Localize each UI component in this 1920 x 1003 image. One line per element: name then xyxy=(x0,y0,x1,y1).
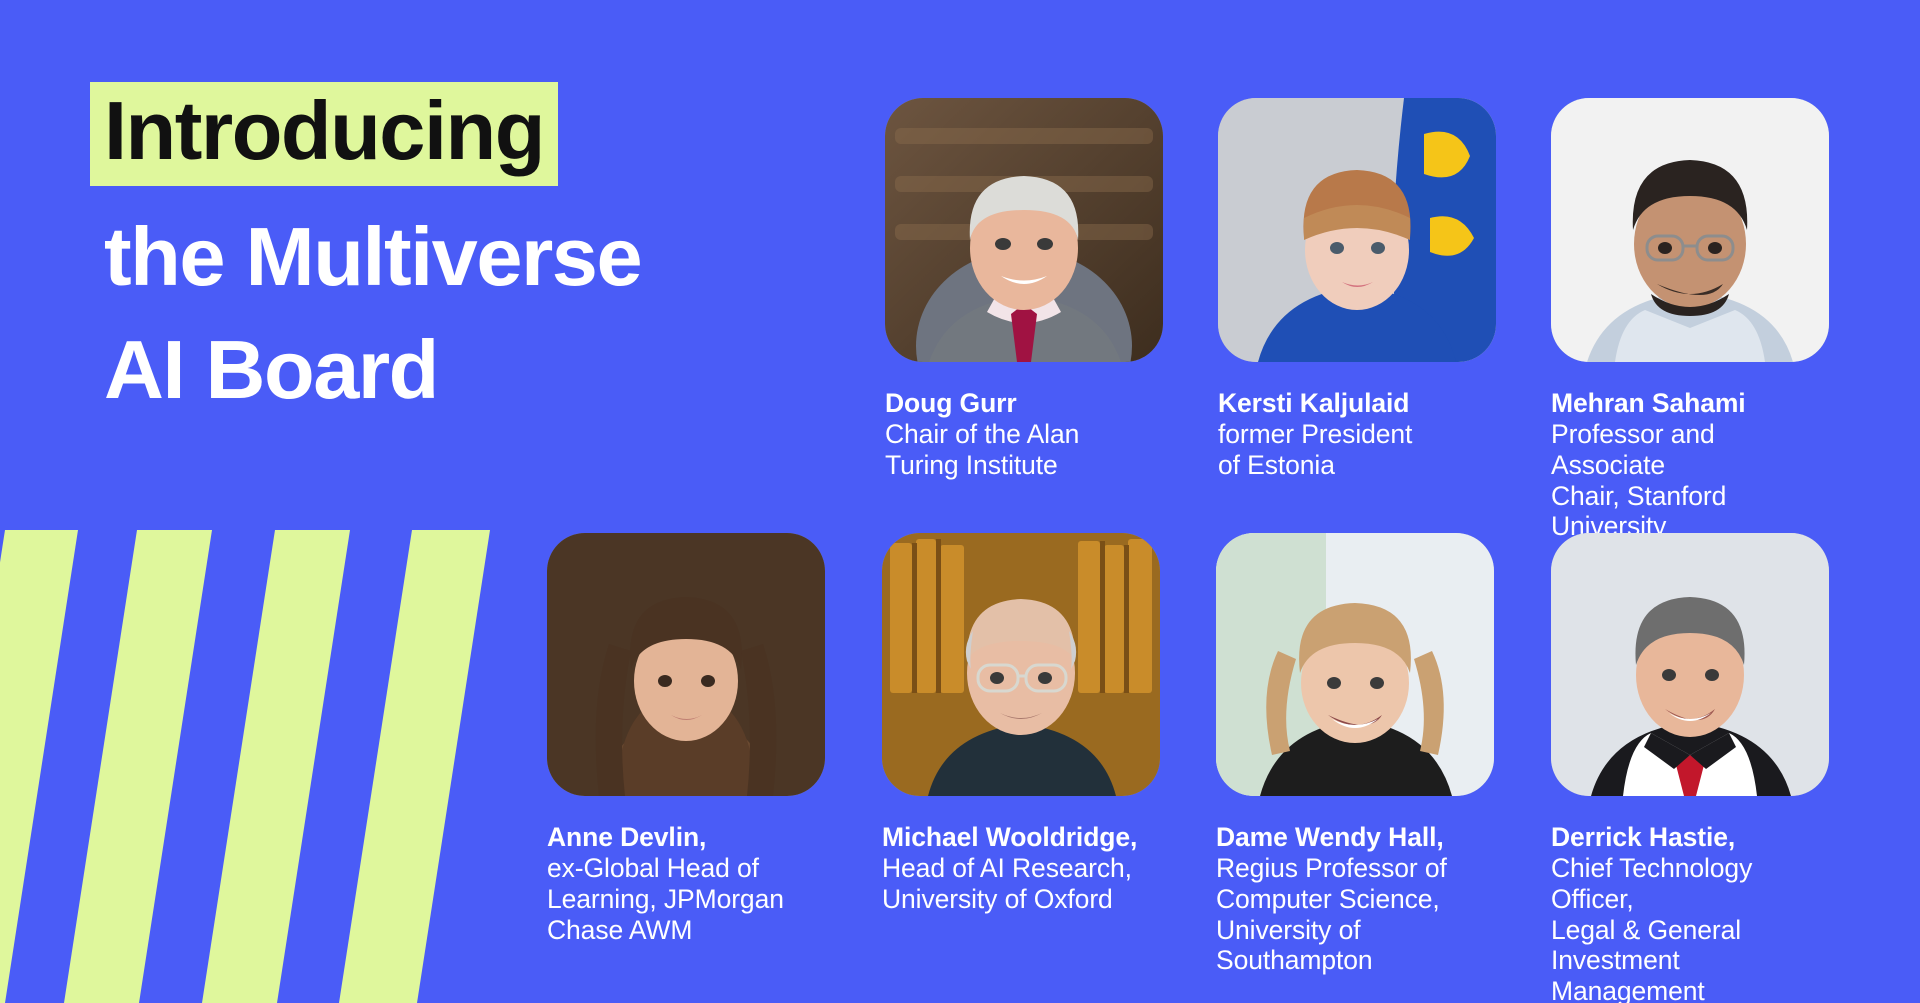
member-card[interactable]: Dame Wendy Hall, Regius Professor of Com… xyxy=(1216,533,1494,976)
member-role-line: Regius Professor of xyxy=(1216,853,1447,883)
headline-line-3: AI Board xyxy=(104,313,820,427)
member-photo xyxy=(1551,98,1829,362)
member-photo xyxy=(1216,533,1494,796)
member-name: Mehran Sahami xyxy=(1551,388,1746,418)
headline-line-2: the Multiverse xyxy=(104,200,820,314)
member-role-line: Chair of the Alan xyxy=(885,419,1079,449)
member-caption: Kersti Kaljulaid former President of Est… xyxy=(1218,388,1496,481)
member-role-line: Chief Technology Officer, xyxy=(1551,853,1752,914)
diagonal-stripes-decoration xyxy=(0,530,520,1003)
member-caption: Doug Gurr Chair of the Alan Turing Insti… xyxy=(885,388,1163,481)
member-name: Dame Wendy Hall, xyxy=(1216,822,1444,852)
headline-highlight-introducing: Introducing xyxy=(90,82,558,186)
member-role-line: ex-Global Head of xyxy=(547,853,759,883)
member-role-line: University of Oxford xyxy=(882,884,1113,914)
member-role-line: Investment Management xyxy=(1551,945,1705,1003)
member-role-line: Computer Science, xyxy=(1216,884,1440,914)
member-card[interactable]: Anne Devlin, ex-Global Head of Learning,… xyxy=(547,533,825,945)
member-photo xyxy=(1218,98,1496,362)
headline-line-1-row: Introducing xyxy=(100,82,820,186)
member-role-line: Professor and Associate xyxy=(1551,419,1715,480)
member-role-line: Learning, JPMorgan xyxy=(547,884,784,914)
member-caption: Dame Wendy Hall, Regius Professor of Com… xyxy=(1216,822,1494,976)
member-role-line: former President xyxy=(1218,419,1412,449)
member-card[interactable]: Doug Gurr Chair of the Alan Turing Insti… xyxy=(885,98,1163,481)
member-name: Michael Wooldridge, xyxy=(882,822,1137,852)
member-photo xyxy=(1551,533,1829,796)
member-photo xyxy=(547,533,825,796)
member-role-line: University of Southampton xyxy=(1216,915,1373,976)
member-role-line: of Estonia xyxy=(1218,450,1335,480)
member-caption: Anne Devlin, ex-Global Head of Learning,… xyxy=(547,822,825,945)
member-caption: Derrick Hastie, Chief Technology Officer… xyxy=(1551,822,1829,1003)
member-photo xyxy=(885,98,1163,362)
member-name: Derrick Hastie, xyxy=(1551,822,1735,852)
member-caption: Mehran Sahami Professor and Associate Ch… xyxy=(1551,388,1829,542)
member-role-line: Turing Institute xyxy=(885,450,1058,480)
member-role-line: Head of AI Research, xyxy=(882,853,1132,883)
member-card[interactable]: Derrick Hastie, Chief Technology Officer… xyxy=(1551,533,1829,1003)
member-card[interactable]: Michael Wooldridge, Head of AI Research,… xyxy=(882,533,1160,915)
member-name: Doug Gurr xyxy=(885,388,1017,418)
member-caption: Michael Wooldridge, Head of AI Research,… xyxy=(882,822,1160,915)
page-headline: Introducing the Multiverse AI Board xyxy=(100,82,820,427)
member-role-line: Chase AWM xyxy=(547,915,692,945)
member-card[interactable]: Mehran Sahami Professor and Associate Ch… xyxy=(1551,98,1829,542)
member-photo xyxy=(882,533,1160,796)
member-name: Kersti Kaljulaid xyxy=(1218,388,1409,418)
member-card[interactable]: Kersti Kaljulaid former President of Est… xyxy=(1218,98,1496,481)
member-name: Anne Devlin, xyxy=(547,822,706,852)
member-role-line: Legal & General xyxy=(1551,915,1741,945)
